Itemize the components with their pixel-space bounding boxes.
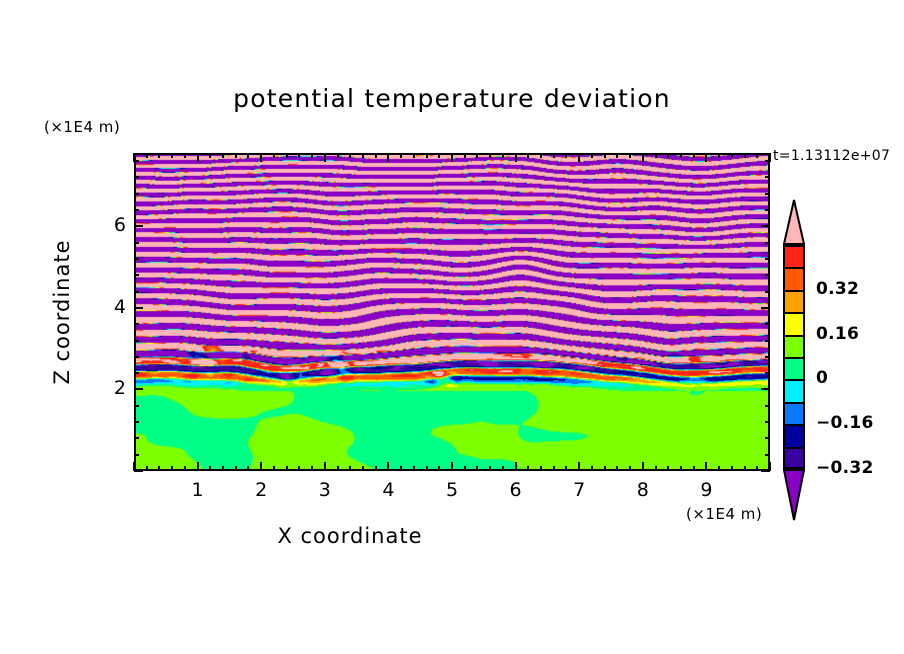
y-tick [134,209,139,211]
x-tick [616,466,618,471]
page-title: potential temperature deviation [0,84,904,113]
colorbar-tick-label: 0.16 [816,324,859,344]
y-tick-right [765,160,770,162]
x-tick-top [375,153,377,158]
y-tick-label: 4 [86,296,126,318]
colorbar-separator [783,312,805,314]
x-tick-top [565,153,567,158]
y-tick [134,372,139,374]
colorbar-over-arrow [783,199,805,245]
y-tick [134,160,139,162]
x-tick [565,466,567,471]
x-tick-top [655,153,657,158]
y-tick [134,340,139,342]
colorbar-segment [783,245,805,267]
x-tick [362,466,364,471]
x-tick-top [400,153,402,158]
x-tick [476,466,478,471]
y-tick [134,405,139,407]
x-tick-label: 9 [686,479,726,501]
x-tick-top [413,153,415,158]
colorbar-tick-label: 0.32 [816,279,859,299]
x-tick-top [451,153,453,162]
y-tick-right [761,470,770,472]
x-tick [260,462,262,471]
y-tick [134,421,139,423]
x-tick-top [324,153,326,162]
figure-canvas: potential temperature deviation (×1E4 m)… [0,0,904,654]
y-tick-right [765,454,770,456]
x-tick [337,466,339,471]
x-tick [591,466,593,471]
x-tick [489,466,491,471]
x-tick-top [235,153,237,158]
x-tick [629,466,631,471]
x-tick [197,462,199,471]
x-tick-top [158,153,160,158]
y-tick-right [765,176,770,178]
x-tick [426,466,428,471]
x-tick [464,466,466,471]
y-tick-right [761,307,770,309]
x-tick [515,462,517,471]
x-tick-top [197,153,199,162]
y-tick [134,176,139,178]
y-tick-right [765,372,770,374]
x-tick-label: 1 [178,479,218,501]
x-tick-top [438,153,440,158]
x-tick-top [693,153,695,158]
x-tick [705,462,707,471]
x-axis-title: X coordinate [0,524,700,548]
x-tick-top [337,153,339,158]
colorbar-under-arrow [783,469,805,521]
y-axis-title: Z coordinate [50,202,74,422]
colorbar-tick-label: −0.16 [816,413,874,433]
x-tick [667,466,669,471]
x-tick [324,462,326,471]
x-tick-label: 7 [559,479,599,501]
y-tick [134,388,143,390]
y-tick [134,242,139,244]
y-tick [134,323,139,325]
colorbar-segment [783,335,805,357]
x-tick-top [489,153,491,158]
y-tick-right [765,242,770,244]
x-tick-top [578,153,580,162]
x-tick [400,466,402,471]
colorbar-separator [783,447,805,449]
colorbar-segment [783,290,805,312]
x-tick-top [146,153,148,158]
y-tick [134,470,143,472]
y-tick [134,258,139,260]
colorbar-segment [783,402,805,424]
x-tick-top [502,153,504,158]
x-tick-label: 8 [623,479,663,501]
x-tick-top [744,153,746,158]
x-tick-top [476,153,478,158]
y-tick-right [765,209,770,211]
x-tick [731,466,733,471]
x-tick-top [527,153,529,158]
x-axis-units-label: (×1E4 m) [686,505,762,523]
y-tick [134,291,139,293]
colorbar-separator [783,402,805,404]
y-tick-right [765,356,770,358]
y-tick-right [765,193,770,195]
x-tick [311,466,313,471]
colorbar-separator [783,245,805,247]
x-tick [553,466,555,471]
colorbar-segment [783,312,805,334]
x-tick-top [362,153,364,158]
y-tick-right [765,340,770,342]
y-tick [134,454,139,456]
x-tick [235,466,237,471]
x-tick-top [298,153,300,158]
colorbar-segment [783,424,805,446]
colorbar-separator [783,379,805,381]
x-tick [693,466,695,471]
x-tick [286,466,288,471]
y-tick [134,225,143,227]
x-tick-top [705,153,707,162]
x-tick-top [222,153,224,158]
x-tick-top [680,153,682,158]
x-tick-label: 6 [496,479,536,501]
x-tick-top [209,153,211,158]
colorbar-tick-label: 0 [816,368,828,388]
x-tick [642,462,644,471]
x-tick-top [273,153,275,158]
x-tick [171,466,173,471]
x-tick [184,466,186,471]
y-tick-right [765,258,770,260]
y-tick [134,307,143,309]
x-tick [298,466,300,471]
x-tick-top [260,153,262,162]
colorbar-segment [783,357,805,379]
x-tick-top [540,153,542,158]
x-tick [158,466,160,471]
colorbar-separator [783,357,805,359]
x-tick-top [515,153,517,162]
x-tick-label: 2 [241,479,281,501]
x-tick [756,466,758,471]
y-tick-right [765,274,770,276]
y-tick [134,437,139,439]
x-tick [247,466,249,471]
x-tick [413,466,415,471]
colorbar-tick-label: −0.32 [816,458,874,478]
y-tick-right [765,421,770,423]
colorbar-segment [783,267,805,289]
x-tick [578,462,580,471]
x-tick-top [286,153,288,158]
x-tick [655,466,657,471]
x-tick [349,466,351,471]
x-tick-top [426,153,428,158]
x-tick [387,462,389,471]
y-tick-right [765,323,770,325]
x-tick-top [718,153,720,158]
x-tick-label: 4 [368,479,408,501]
x-tick-top [731,153,733,158]
time-annotation: t=1.13112e+07 [773,148,890,164]
x-tick [222,466,224,471]
x-tick-top [553,153,555,158]
x-tick-label: 3 [305,479,345,501]
x-tick-top [756,153,758,158]
x-tick-top [247,153,249,158]
y-tick-right [765,437,770,439]
y-tick [134,274,139,276]
y-tick-right [761,388,770,390]
x-tick [375,466,377,471]
x-tick [438,466,440,471]
x-tick-top [629,153,631,158]
x-tick-top [642,153,644,162]
colorbar-separator [783,290,805,292]
y-tick [134,193,139,195]
x-tick-top [464,153,466,158]
colorbar-separator [783,267,805,269]
colorbar-segment [783,447,805,469]
y-axis-units-label: (×1E4 m) [44,118,120,136]
x-tick-top [349,153,351,158]
x-tick [527,466,529,471]
x-tick [451,462,453,471]
temperature-deviation-field [136,155,768,469]
x-tick [744,466,746,471]
colorbar-separator [783,335,805,337]
x-tick-top [387,153,389,162]
x-tick-top [604,153,606,158]
x-tick-top [591,153,593,158]
x-tick [540,466,542,471]
x-tick [146,466,148,471]
x-tick [502,466,504,471]
x-tick [209,466,211,471]
x-tick [718,466,720,471]
x-tick-top [616,153,618,158]
plot-area [134,153,770,471]
y-tick-label: 6 [86,214,126,236]
colorbar-separator [783,424,805,426]
x-tick-label: 5 [432,479,472,501]
x-tick [273,466,275,471]
x-tick-top [184,153,186,158]
x-tick [680,466,682,471]
y-tick [134,356,139,358]
y-tick-right [761,225,770,227]
x-tick-top [171,153,173,158]
x-tick-top [311,153,313,158]
colorbar-segment [783,379,805,401]
y-tick-right [765,405,770,407]
x-tick [604,466,606,471]
y-tick-label: 2 [86,377,126,399]
x-tick-top [667,153,669,158]
colorbar [783,245,805,469]
y-tick-right [765,291,770,293]
